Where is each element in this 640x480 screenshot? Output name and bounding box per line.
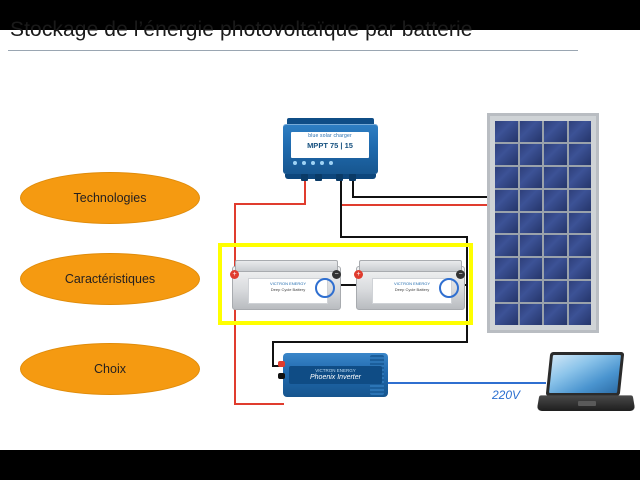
panel-cell [520,213,543,234]
panel-cell [569,258,592,279]
battery-1-lid [235,260,338,272]
panel-cell [544,190,567,211]
photovoltaic-panel[interactable] [487,113,599,333]
battery-1[interactable]: VICTRON ENERGY Deep Cycle Battery + − [232,258,339,308]
controller-faceplate: blue solar charger MPPT 75 | 15 [291,132,369,158]
wire-controller-to-panel-positive [342,204,490,206]
wire-controller-terminal-left [304,180,306,205]
panel-cell [544,213,567,234]
panel-cell [569,213,592,234]
panel-cell [544,167,567,188]
controller-led-4 [320,161,324,165]
battery-2-negative-terminal: − [456,270,465,279]
battery-1-positive-symbol: + [230,270,239,279]
inverter-positive-terminal [278,361,285,367]
laptop-touchpad [578,401,596,406]
battery-1-gear-icon [315,278,335,298]
controller-base [285,174,376,179]
wire-controller-negative-down [340,204,342,236]
wire-controller-to-panel [352,196,487,198]
ac-voltage-label: 220V [492,388,520,402]
panel-cell [520,121,543,142]
panel-cell [495,281,518,302]
wire-inverter-negative-drop [272,341,274,367]
panel-cell [569,144,592,165]
panel-cell [520,304,543,325]
topic-caracteristiques[interactable]: Caractéristiques [20,253,200,305]
inverter-brand-label: VICTRON ENERGY [289,368,382,373]
battery-2-lid [359,260,462,272]
panel-cell [544,144,567,165]
wire-controller-negative-run [340,236,468,238]
controller-terminal-3 [336,174,343,181]
panel-cell [544,281,567,302]
battery-2-positive-terminal: + [354,270,363,279]
battery-2[interactable]: VICTRON ENERGY Deep Cycle Battery + − [356,258,463,308]
topic-choix-label: Choix [94,362,126,376]
panel-cell [544,121,567,142]
controller-led-1 [293,161,297,165]
panel-cell [569,167,592,188]
panel-cell [495,258,518,279]
topic-technologies-label: Technologies [74,191,147,205]
topic-technologies[interactable]: Technologies [20,172,200,224]
title-divider [8,50,578,51]
panel-cell [544,304,567,325]
controller-led-row [293,161,367,166]
panel-cell [569,121,592,142]
panel-cell [569,190,592,211]
panel-cell [520,258,543,279]
topic-caracteristiques-label: Caractéristiques [65,272,155,286]
panel-cell [569,235,592,256]
controller-terminal-4 [349,174,356,181]
panel-cell [544,235,567,256]
page-title: Stockage de l’énergie photovoltaïque par… [10,18,620,42]
topic-choix[interactable]: Choix [20,343,200,395]
controller-led-3 [311,161,315,165]
wire-controller-to-battery-positive-horizontal [234,203,306,205]
inverter-negative-terminal [278,373,285,379]
dc-ac-inverter[interactable]: VICTRON ENERGY Phoenix Inverter [283,353,388,401]
panel-cell [495,213,518,234]
battery-1-positive-terminal: + [230,270,239,279]
panel-cell [520,235,543,256]
laptop-load[interactable] [538,352,634,420]
mppt-charge-controller[interactable]: blue solar charger MPPT 75 | 15 [283,118,378,180]
controller-terminal-1 [301,174,308,181]
panel-cell [495,235,518,256]
panel-cell-grid [495,121,591,325]
wire-inverter-to-laptop [388,382,546,384]
battery-1-negative-terminal: − [332,270,341,279]
panel-cell [495,121,518,142]
panel-cell [569,304,592,325]
wire-controller-terminal-right-2 [352,180,354,196]
wire-controller-terminal-right-1 [340,180,342,204]
controller-led-2 [302,161,306,165]
inverter-model-label: Phoenix Inverter [289,374,382,381]
wire-battery-to-inverter-positive-horizontal [234,403,284,405]
wire-battery-to-inverter-negative-run [272,341,468,343]
battery-2-positive-symbol: + [354,270,363,279]
inverter-faceplate: VICTRON ENERGY Phoenix Inverter [289,366,382,384]
panel-cell [520,281,543,302]
panel-cell [520,144,543,165]
controller-led-5 [329,161,333,165]
panel-cell [544,258,567,279]
panel-cell [495,304,518,325]
controller-brand-label: blue solar charger [291,133,369,139]
panel-cell [569,281,592,302]
panel-cell [495,144,518,165]
controller-terminal-2 [315,174,322,181]
panel-cell [520,167,543,188]
battery-2-negative-symbol: − [456,270,465,279]
slide-canvas: Stockage de l’énergie photovoltaïque par… [0,0,640,480]
battery-2-gear-icon [439,278,459,298]
laptop-display [549,355,621,393]
battery-1-negative-symbol: − [332,270,341,279]
controller-model-label: MPPT 75 | 15 [291,141,369,150]
panel-cell [520,190,543,211]
panel-cell [495,190,518,211]
laptop-screen [546,352,625,396]
panel-cell [495,167,518,188]
